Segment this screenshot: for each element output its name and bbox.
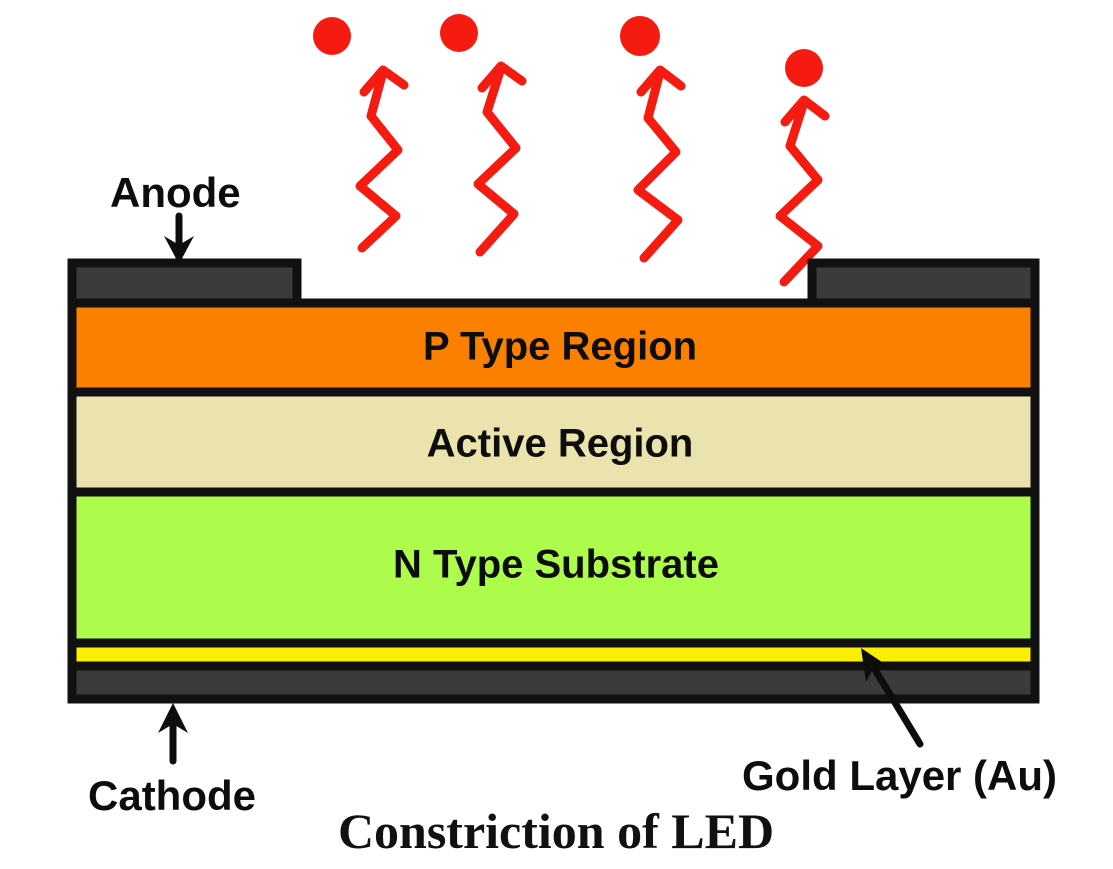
cathode-label: Cathode (88, 772, 256, 819)
anode-callout: Anode (110, 169, 241, 264)
photon-wave-icon (478, 68, 516, 252)
anode-pad-left[interactable] (72, 263, 297, 303)
active-region-label: Active Region (427, 422, 694, 466)
n-type-substrate-label: N Type Substrate (393, 543, 719, 587)
photon-dot-icon (785, 49, 823, 87)
photon-dot-icon (620, 16, 660, 56)
led-diagram-canvas: P Type Region Active Region N Type Subst… (0, 0, 1113, 869)
photon-dot-icon (440, 14, 478, 52)
photon-2 (440, 14, 522, 252)
photon-4 (780, 49, 825, 282)
cathode-callout: Cathode (88, 703, 256, 819)
photon-emission-group (313, 14, 825, 282)
photon-3 (620, 16, 681, 258)
gold-layer-label: Gold Layer (Au) (742, 752, 1057, 799)
anode-pad-right[interactable] (812, 263, 1035, 303)
led-structure-svg: P Type Region Active Region N Type Subst… (0, 0, 1113, 869)
photon-wave-icon (780, 102, 818, 282)
photon-dot-icon (313, 17, 351, 55)
photon-1 (313, 17, 404, 248)
device-stack: P Type Region Active Region N Type Subst… (72, 263, 1035, 699)
anode-label: Anode (110, 169, 241, 216)
p-type-region-label: P Type Region (423, 325, 697, 369)
figure-title: Constriction of LED (338, 803, 774, 859)
photon-wave-icon (638, 72, 678, 258)
photon-wave-icon (360, 72, 398, 248)
